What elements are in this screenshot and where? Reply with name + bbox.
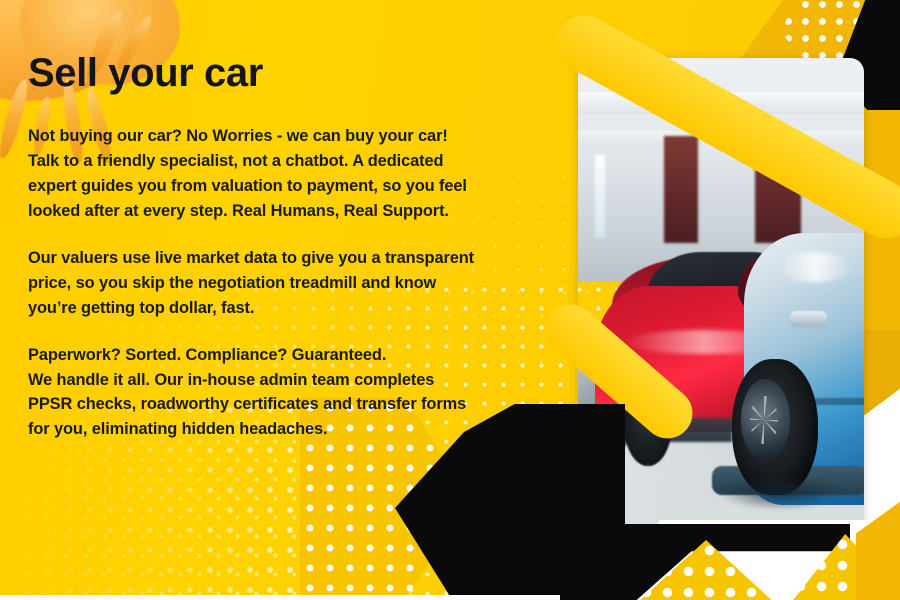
text-content-column: Sell your car Not buying our car? No Wor… (28, 52, 558, 442)
page-title: Sell your car (28, 52, 558, 94)
body-paragraph-1: Not buying our car? No Worries - we can … (28, 124, 558, 224)
body-paragraph-2: Our valuers use live market data to give… (28, 246, 558, 321)
halftone-triangle-shape (636, 540, 776, 600)
photo-pillar (664, 136, 698, 243)
body-paragraph-3: Paperwork? Sorted. Compliance? Guarantee… (28, 343, 558, 443)
photo-blue-car-glare (778, 252, 852, 281)
photo-tyre-shadow (721, 476, 841, 510)
sell-your-car-poster: Sell your car Not buying our car? No Wor… (0, 0, 900, 600)
gold-notch-shape (858, 330, 900, 420)
photo-strip-light (595, 155, 605, 238)
bottom-white-edge (0, 595, 560, 600)
photo-door-handle (790, 311, 827, 328)
